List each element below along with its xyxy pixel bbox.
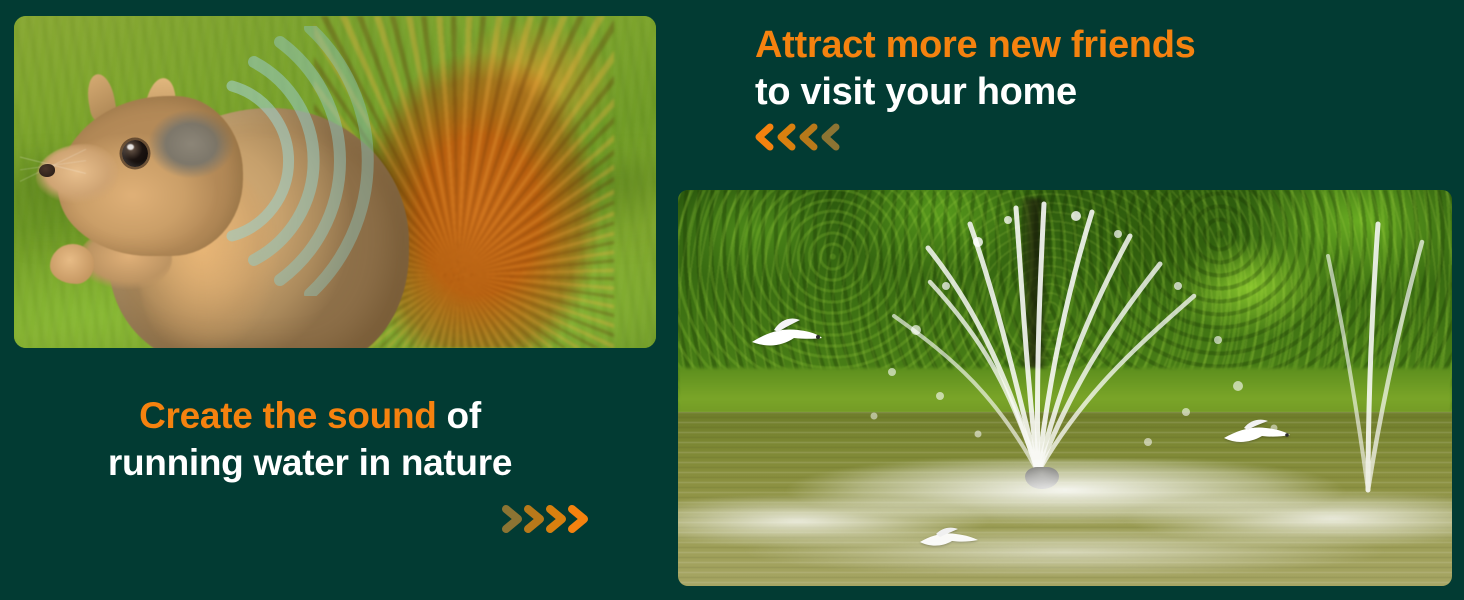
fountain-photo: Floating pond fountain spraying water wi… [678, 190, 1452, 586]
right-headline-line1: Attract more new friends [755, 22, 1375, 69]
left-headline-line2: running water in nature [0, 439, 620, 486]
squirrel-photo: Fox squirrel standing upright on green g… [14, 16, 656, 348]
right-headline-line2: to visit your home [755, 69, 1375, 116]
left-text-block: Create the sound of running water in nat… [0, 392, 620, 536]
right-text-block: Attract more new friends to visit your h… [755, 22, 1375, 152]
gull-icon [748, 308, 826, 354]
gull-icon [1222, 412, 1292, 452]
squirrel-paw [50, 244, 94, 284]
left-headline-accent: Create the sound [139, 395, 436, 436]
left-headline-line1: Create the sound of [0, 392, 620, 439]
gull-icon [918, 522, 980, 556]
promo-banner: Fox squirrel standing upright on green g… [0, 0, 1464, 600]
right-chevron-group [0, 502, 620, 536]
chevron-left-icon [755, 122, 855, 152]
squirrel-eye [122, 140, 148, 167]
water-foam [678, 459, 1452, 578]
left-headline-rest: of [437, 395, 481, 436]
chevron-right-icon [498, 502, 598, 536]
sound-wave-icon [210, 26, 490, 296]
left-chevron-group [755, 122, 1375, 152]
squirrel-nose [39, 164, 55, 177]
